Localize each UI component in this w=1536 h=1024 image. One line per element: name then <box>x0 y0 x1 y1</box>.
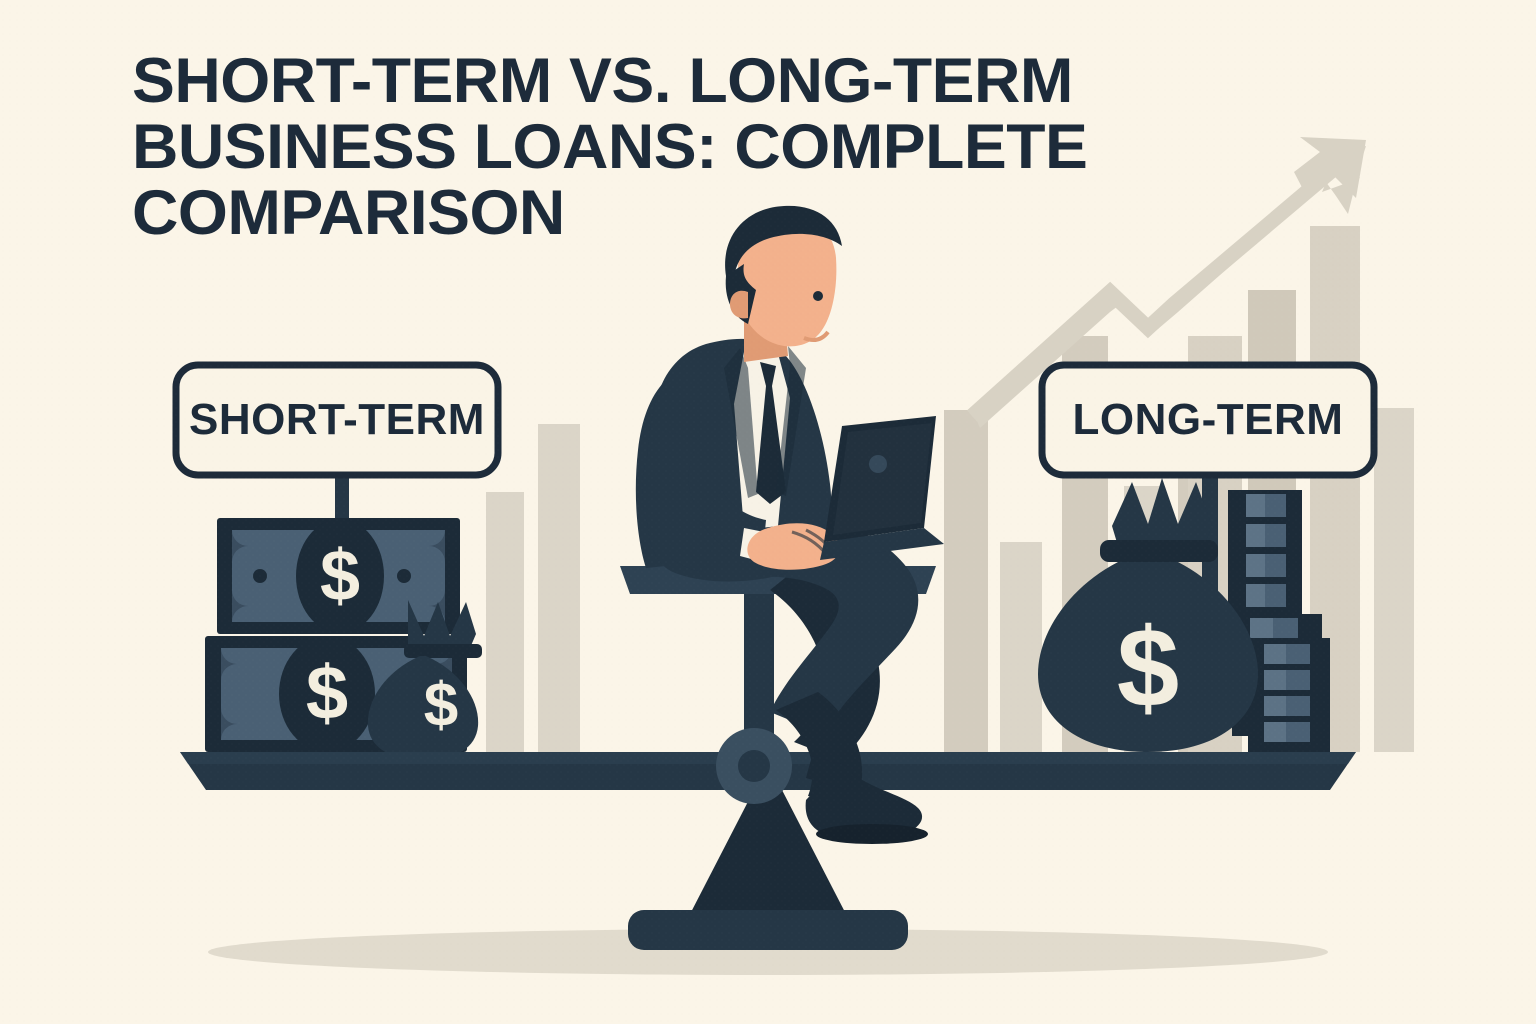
poster-canvas: $ $ $ <box>0 0 1536 1024</box>
illustration-canvas: $ $ $ <box>0 0 1536 1024</box>
